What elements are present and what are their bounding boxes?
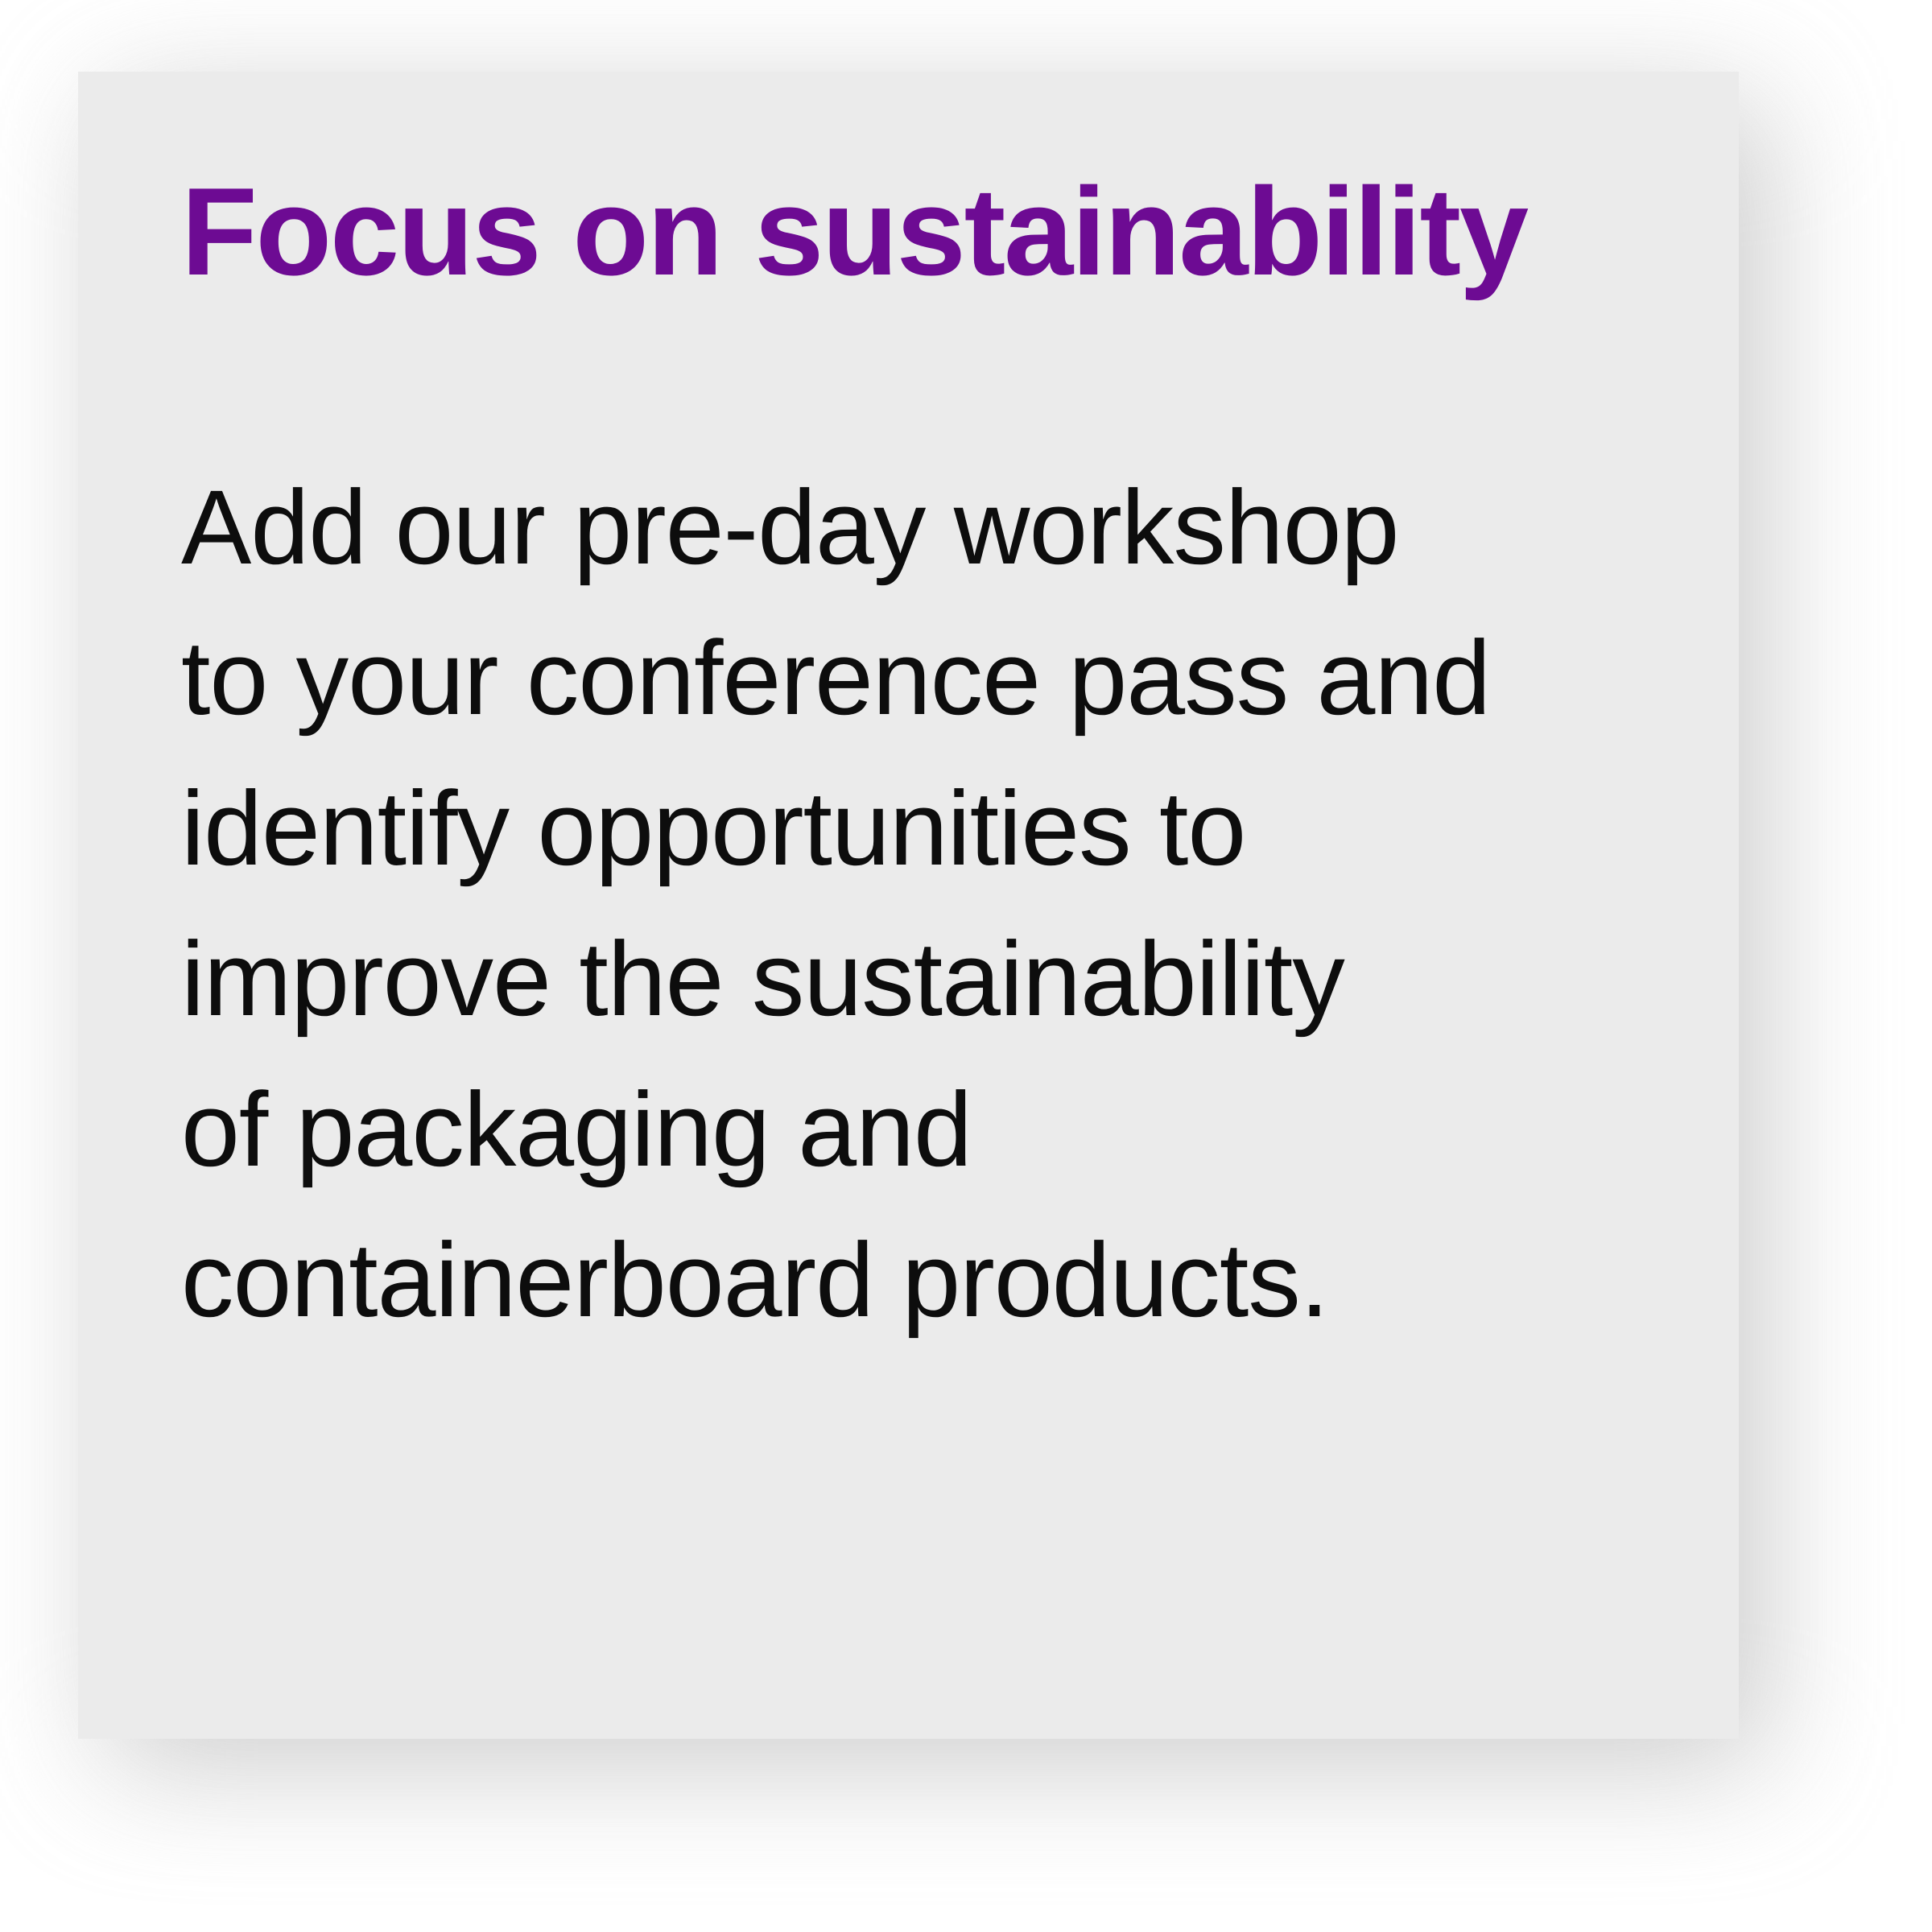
card-body-text: Add our pre-day workshop to your confere… — [181, 452, 1654, 1355]
promo-card-canvas: Focus on sustainability Add our pre-day … — [0, 0, 1932, 1932]
card-headline: Focus on sustainability — [181, 169, 1527, 294]
body-line-3: identify opportunities to — [181, 753, 1654, 903]
body-line-5: of packaging and — [181, 1054, 1654, 1204]
body-line-2: to your conference pass and — [181, 602, 1654, 753]
sustainability-promo-card: Focus on sustainability Add our pre-day … — [78, 72, 1739, 1739]
body-line-6: containerboard products. — [181, 1204, 1654, 1355]
body-line-4: improve the sustainability — [181, 903, 1654, 1054]
body-line-1: Add our pre-day workshop — [181, 452, 1654, 602]
